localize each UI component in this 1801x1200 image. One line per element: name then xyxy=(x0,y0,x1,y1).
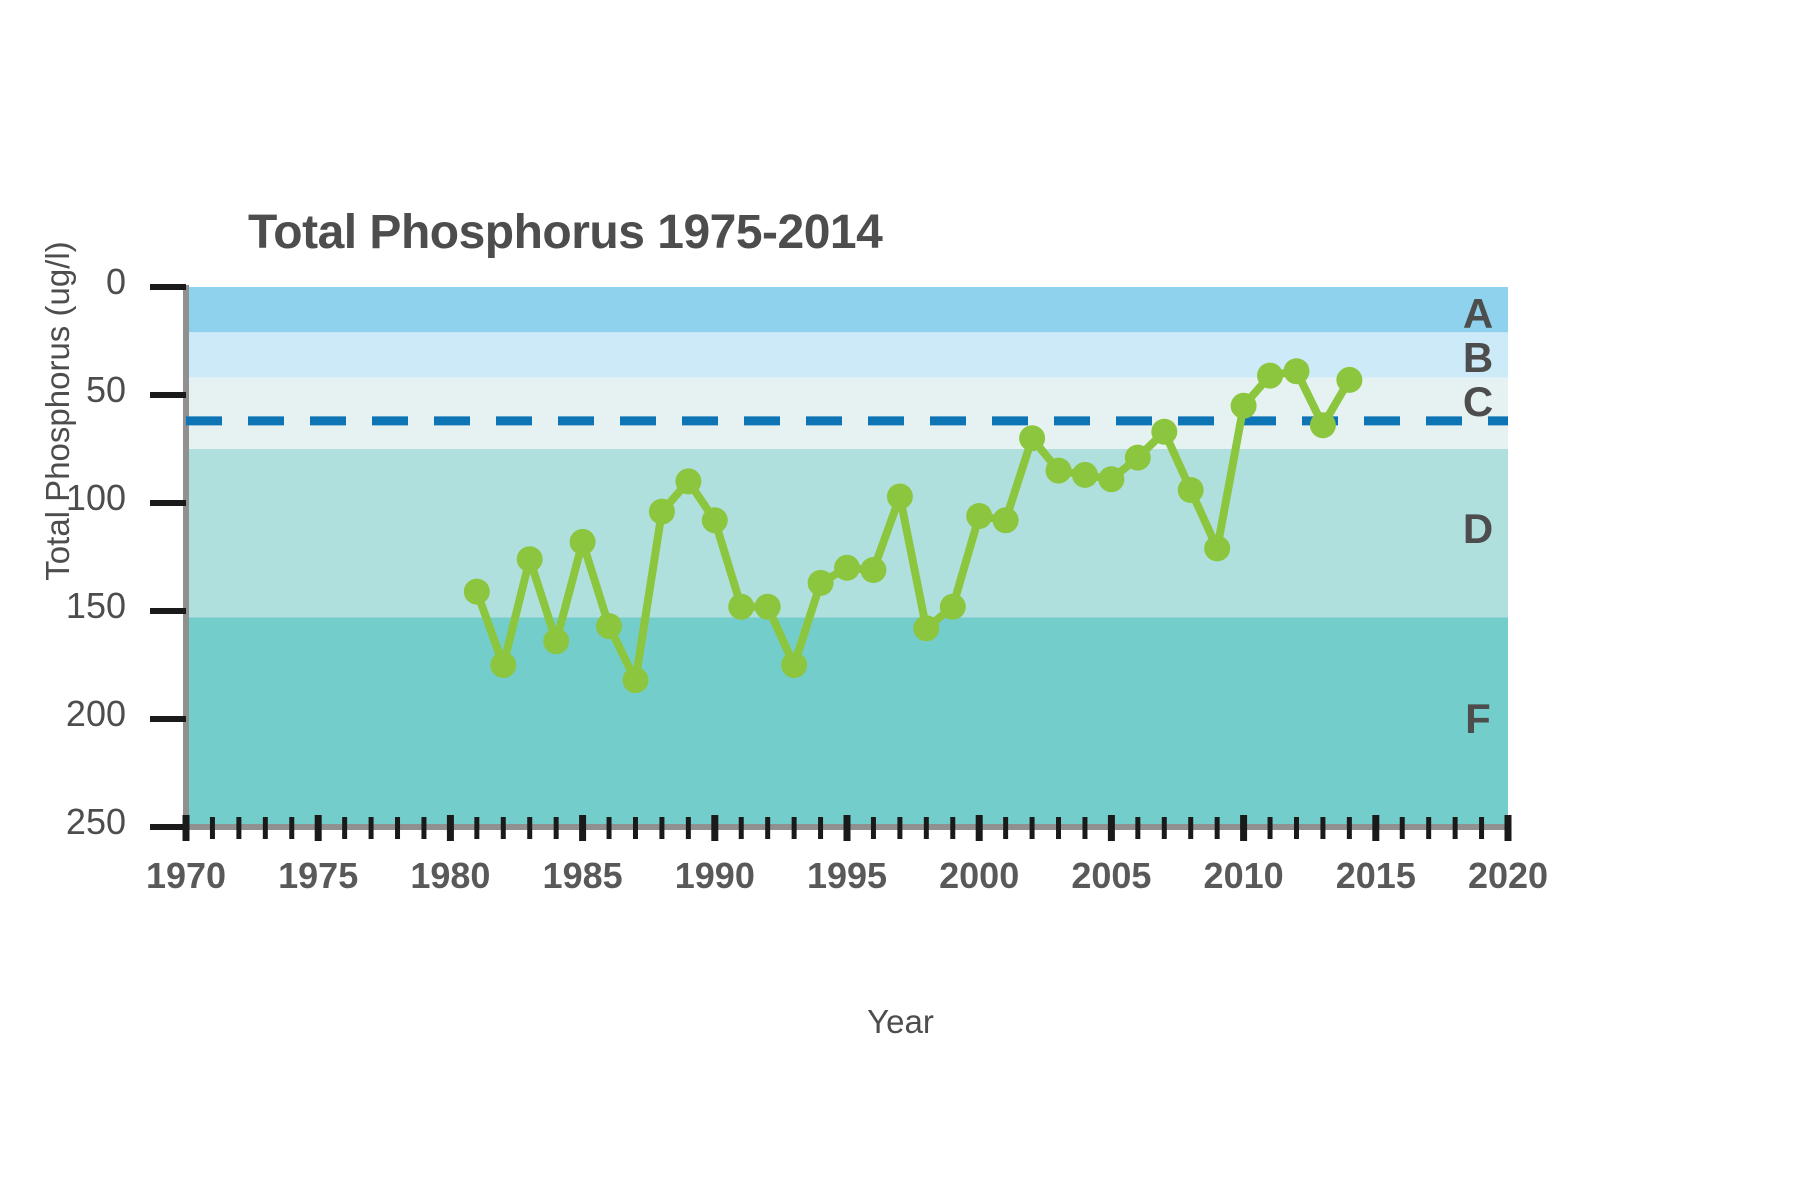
data-point xyxy=(781,652,807,678)
data-point xyxy=(940,594,966,620)
data-point xyxy=(1310,412,1336,438)
data-point xyxy=(1336,367,1362,393)
grade-band-F xyxy=(186,617,1508,827)
data-point xyxy=(570,529,596,555)
data-point xyxy=(596,613,622,639)
data-point xyxy=(649,499,675,525)
data-point xyxy=(1231,393,1257,419)
grade-label-C: C xyxy=(1448,378,1508,426)
data-point xyxy=(966,503,992,529)
data-point xyxy=(490,652,516,678)
y-tick-label: 100 xyxy=(6,477,126,519)
data-point xyxy=(675,468,701,494)
data-point xyxy=(808,570,834,596)
grade-label-D: D xyxy=(1448,505,1508,553)
y-tick-label: 50 xyxy=(6,369,126,411)
x-tick-label: 2020 xyxy=(1428,855,1588,897)
data-point xyxy=(1284,358,1310,384)
data-point xyxy=(755,594,781,620)
grade-band-A xyxy=(186,287,1508,332)
data-point xyxy=(517,546,543,572)
data-point xyxy=(1072,462,1098,488)
data-point xyxy=(887,484,913,510)
data-point xyxy=(1257,363,1283,389)
grade-band-C xyxy=(186,378,1508,449)
data-point xyxy=(860,557,886,583)
data-point xyxy=(543,628,569,654)
y-tick-label: 250 xyxy=(6,801,126,843)
grade-band-B xyxy=(186,332,1508,377)
y-tick-label: 0 xyxy=(6,261,126,303)
data-point xyxy=(1098,466,1124,492)
data-point xyxy=(1046,458,1072,484)
data-point xyxy=(1151,419,1177,445)
y-tick-label: 200 xyxy=(6,693,126,735)
plot-area xyxy=(0,0,1801,1200)
data-point xyxy=(702,507,728,533)
data-point xyxy=(993,507,1019,533)
data-point xyxy=(1019,425,1045,451)
data-point xyxy=(1125,445,1151,471)
data-point xyxy=(1178,477,1204,503)
data-point xyxy=(913,615,939,641)
grade-band-D xyxy=(186,449,1508,617)
data-point xyxy=(728,594,754,620)
data-point xyxy=(834,555,860,581)
chart-canvas: Total Phosphorus 1975-2014 Total Phospho… xyxy=(0,0,1801,1200)
grade-label-F: F xyxy=(1448,695,1508,743)
data-point xyxy=(623,667,649,693)
data-point xyxy=(464,579,490,605)
grade-label-A: A xyxy=(1448,290,1508,338)
grade-label-B: B xyxy=(1448,334,1508,382)
y-tick-label: 150 xyxy=(6,585,126,627)
data-point xyxy=(1204,535,1230,561)
